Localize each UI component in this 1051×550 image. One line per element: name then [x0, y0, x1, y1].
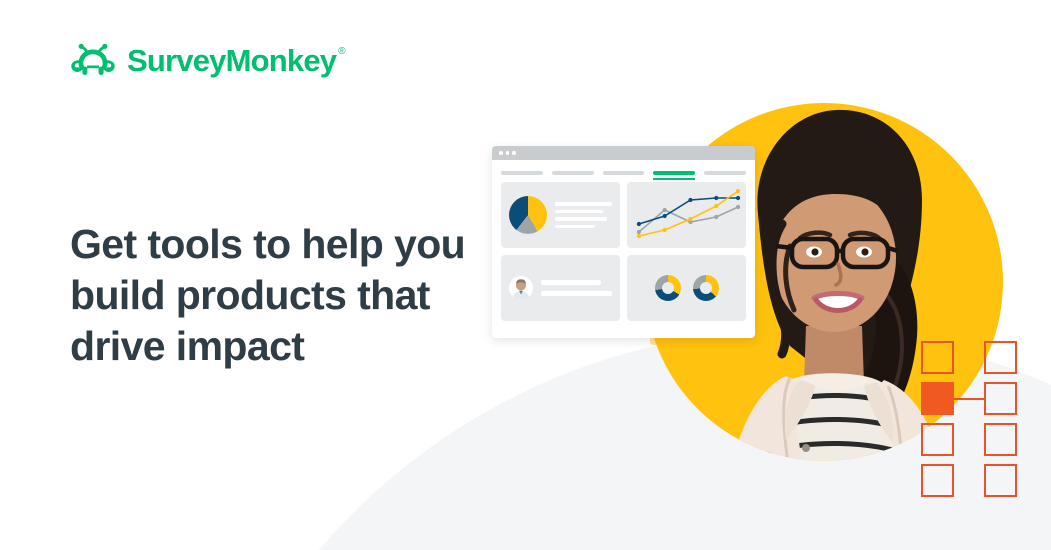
pie-chart — [509, 196, 547, 234]
text-line — [555, 202, 612, 206]
text-line — [541, 280, 601, 285]
grid-square — [984, 423, 1017, 456]
nav-item[interactable] — [603, 171, 645, 175]
window-dot-icon — [499, 151, 503, 155]
profile-card-text-lines — [541, 280, 612, 296]
grid-square — [984, 341, 1017, 374]
avatar-photo-icon — [509, 276, 533, 300]
profile-card — [501, 255, 620, 321]
grid-square — [921, 341, 954, 374]
text-line — [555, 225, 595, 229]
pie-chart-card — [501, 182, 620, 248]
registered-trademark-icon: ® — [338, 47, 345, 57]
pie-card-text-lines — [555, 202, 612, 228]
text-line — [541, 291, 612, 296]
promo-banner: SurveyMonkey ® Get tools to help you bui… — [0, 0, 1051, 550]
text-line — [555, 217, 607, 221]
grid-connector-line — [954, 398, 984, 400]
grid-square-filled — [921, 382, 954, 415]
grid-square — [984, 464, 1017, 497]
nav-item[interactable] — [501, 171, 543, 175]
page-title: Get tools to help you build products tha… — [70, 219, 490, 371]
text-line — [555, 210, 603, 214]
logo-wordmark-text: SurveyMonkey — [127, 45, 336, 76]
window-dot-icon — [506, 151, 510, 155]
nav-item[interactable] — [552, 171, 594, 175]
surveymonkey-logo[interactable]: SurveyMonkey ® — [68, 40, 345, 80]
window-dot-icon — [512, 151, 516, 155]
logo-wordmark: SurveyMonkey ® — [127, 45, 345, 76]
grid-square — [921, 464, 954, 497]
square-grid-decoration — [921, 341, 1017, 493]
grid-square — [921, 423, 954, 456]
avatar — [509, 276, 533, 300]
monkey-icon — [68, 40, 118, 80]
grid-square — [984, 382, 1017, 415]
